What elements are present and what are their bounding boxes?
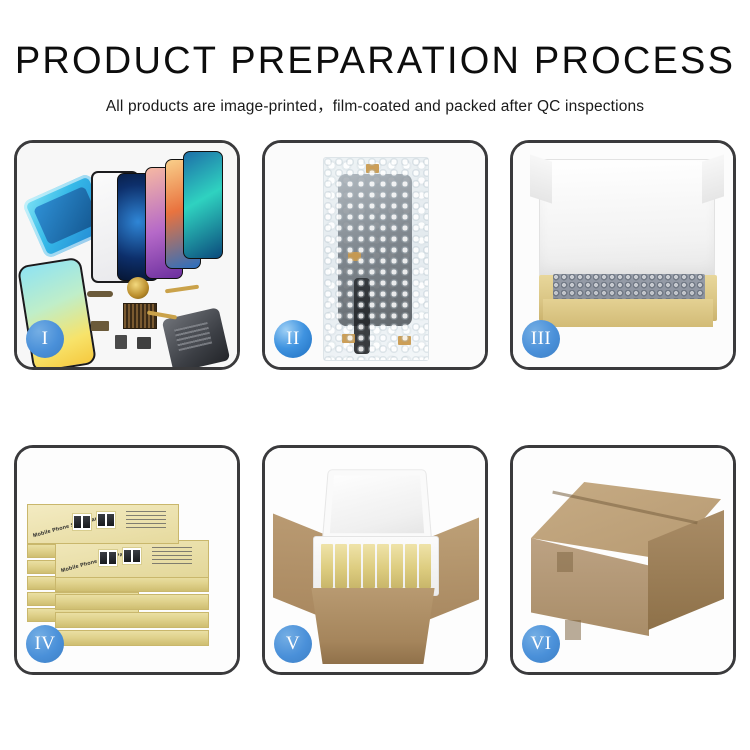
process-step-6: VI — [510, 445, 736, 675]
speaker-coil-part — [127, 277, 149, 299]
stacked-box — [55, 630, 209, 646]
step-number-badge: VI — [522, 625, 560, 663]
tape-piece — [366, 164, 379, 173]
process-step-4: Mobile Phone Spare Parts Mobile Phone Sp… — [14, 445, 240, 675]
process-step-1: I — [14, 140, 240, 370]
packed-box — [377, 544, 389, 588]
stacked-box — [55, 576, 209, 592]
page-title: PRODUCT PREPARATION PROCESS — [0, 42, 750, 82]
camera-part — [91, 321, 109, 331]
tape-piece — [342, 334, 355, 343]
box-label-image — [122, 547, 142, 565]
foam-container-lid — [322, 469, 432, 540]
flex-cable-part — [165, 285, 199, 294]
step-number-badge: IV — [26, 625, 64, 663]
spare-parts-cluster — [85, 273, 235, 367]
stacked-box — [55, 612, 209, 628]
step-number-badge: II — [274, 320, 312, 358]
white-box-lid — [539, 159, 715, 277]
product-preparation-infographic: PRODUCT PREPARATION PROCESS All products… — [0, 0, 750, 750]
box-label-image — [72, 513, 92, 531]
button-part — [115, 335, 127, 349]
packed-yellow-boxes — [321, 544, 431, 588]
tape-piece — [348, 252, 361, 261]
step-number-badge: I — [26, 320, 64, 358]
header: PRODUCT PREPARATION PROCESS All products… — [0, 0, 750, 116]
packed-box — [405, 544, 417, 588]
packed-box — [391, 544, 403, 588]
yellow-box-front — [543, 299, 713, 327]
earpiece-part — [87, 291, 113, 297]
page-subtitle: All products are image-printed，film-coat… — [0, 94, 750, 116]
labeled-box: Mobile Phone Spare Parts — [55, 540, 209, 578]
wrapped-screen — [338, 174, 412, 326]
tape-piece — [398, 336, 411, 345]
step-number-badge: V — [274, 625, 312, 663]
packed-box — [335, 544, 347, 588]
box-label-text: Mobile Phone Spare Parts — [60, 550, 130, 574]
step-number-badge: III — [522, 320, 560, 358]
box-label-text: Mobile Phone Spare Parts — [32, 515, 102, 539]
box-label-image — [96, 511, 116, 529]
connector-chip-part — [123, 303, 157, 329]
process-step-2: II — [262, 140, 488, 370]
carton-tape — [557, 552, 573, 572]
packed-box — [321, 544, 333, 588]
labeled-box: Mobile Phone Spare Parts — [27, 504, 179, 544]
bubble-wrap-bag — [323, 157, 429, 361]
carton-tape — [565, 620, 581, 640]
packed-box — [363, 544, 375, 588]
carton-body — [303, 588, 443, 664]
stacked-box — [55, 594, 209, 610]
phone-screen-teal — [183, 151, 223, 259]
process-step-5: V — [262, 445, 488, 675]
wrapped-flex-cable — [354, 278, 370, 354]
box-label-lines — [152, 547, 192, 567]
box-label-lines — [126, 511, 166, 531]
packed-box — [349, 544, 361, 588]
box-label-image — [98, 549, 118, 567]
vibrator-part — [137, 337, 151, 349]
packed-box — [419, 544, 431, 588]
process-step-grid: I II — [14, 140, 736, 675]
process-step-3: III — [510, 140, 736, 370]
